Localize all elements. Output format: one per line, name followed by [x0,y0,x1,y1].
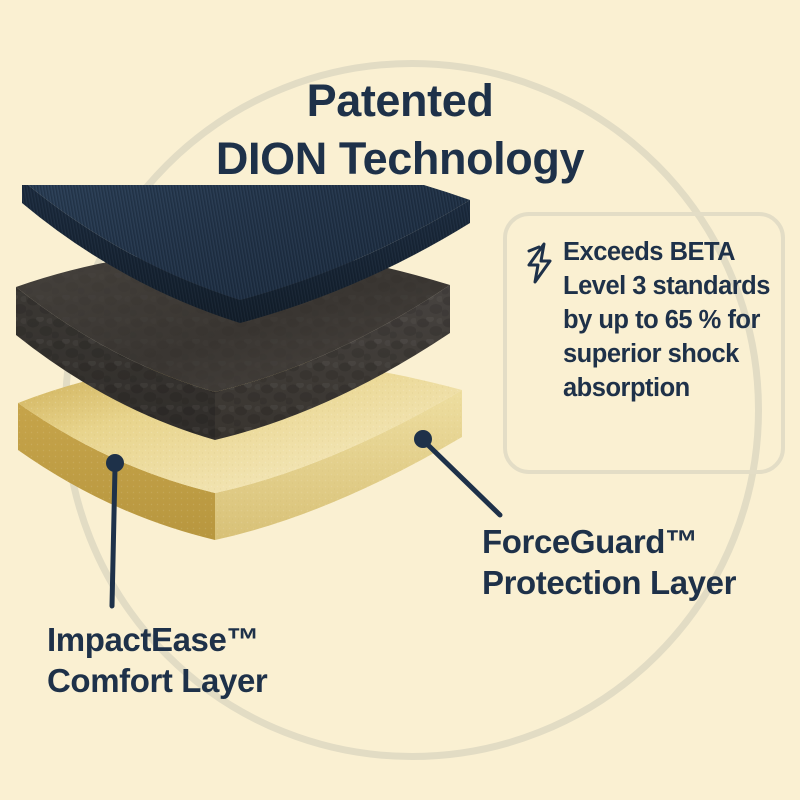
infographic-canvas: Patented DION Technology [0,0,800,800]
label-impactease: ImpactEase™ Comfort Layer [47,619,267,702]
title-line-2: DION Technology [0,130,800,188]
stat-callout-box: Exceeds BETA Level 3 standards by up to … [503,212,785,474]
title-line-1: Patented [307,75,494,126]
callout-text: Exceeds BETA Level 3 standards by up to … [563,236,771,406]
label-forceguard-line-1: ForceGuard™ [482,521,736,562]
label-impactease-line-1: ImpactEase™ [47,619,267,660]
lightning-bolt-icon [525,242,555,289]
foam-layer-illustration [0,185,500,575]
page-title: Patented DION Technology [0,72,800,187]
label-forceguard-line-2: Protection Layer [482,562,736,603]
label-impactease-line-2: Comfort Layer [47,660,267,701]
label-forceguard: ForceGuard™ Protection Layer [482,521,736,604]
